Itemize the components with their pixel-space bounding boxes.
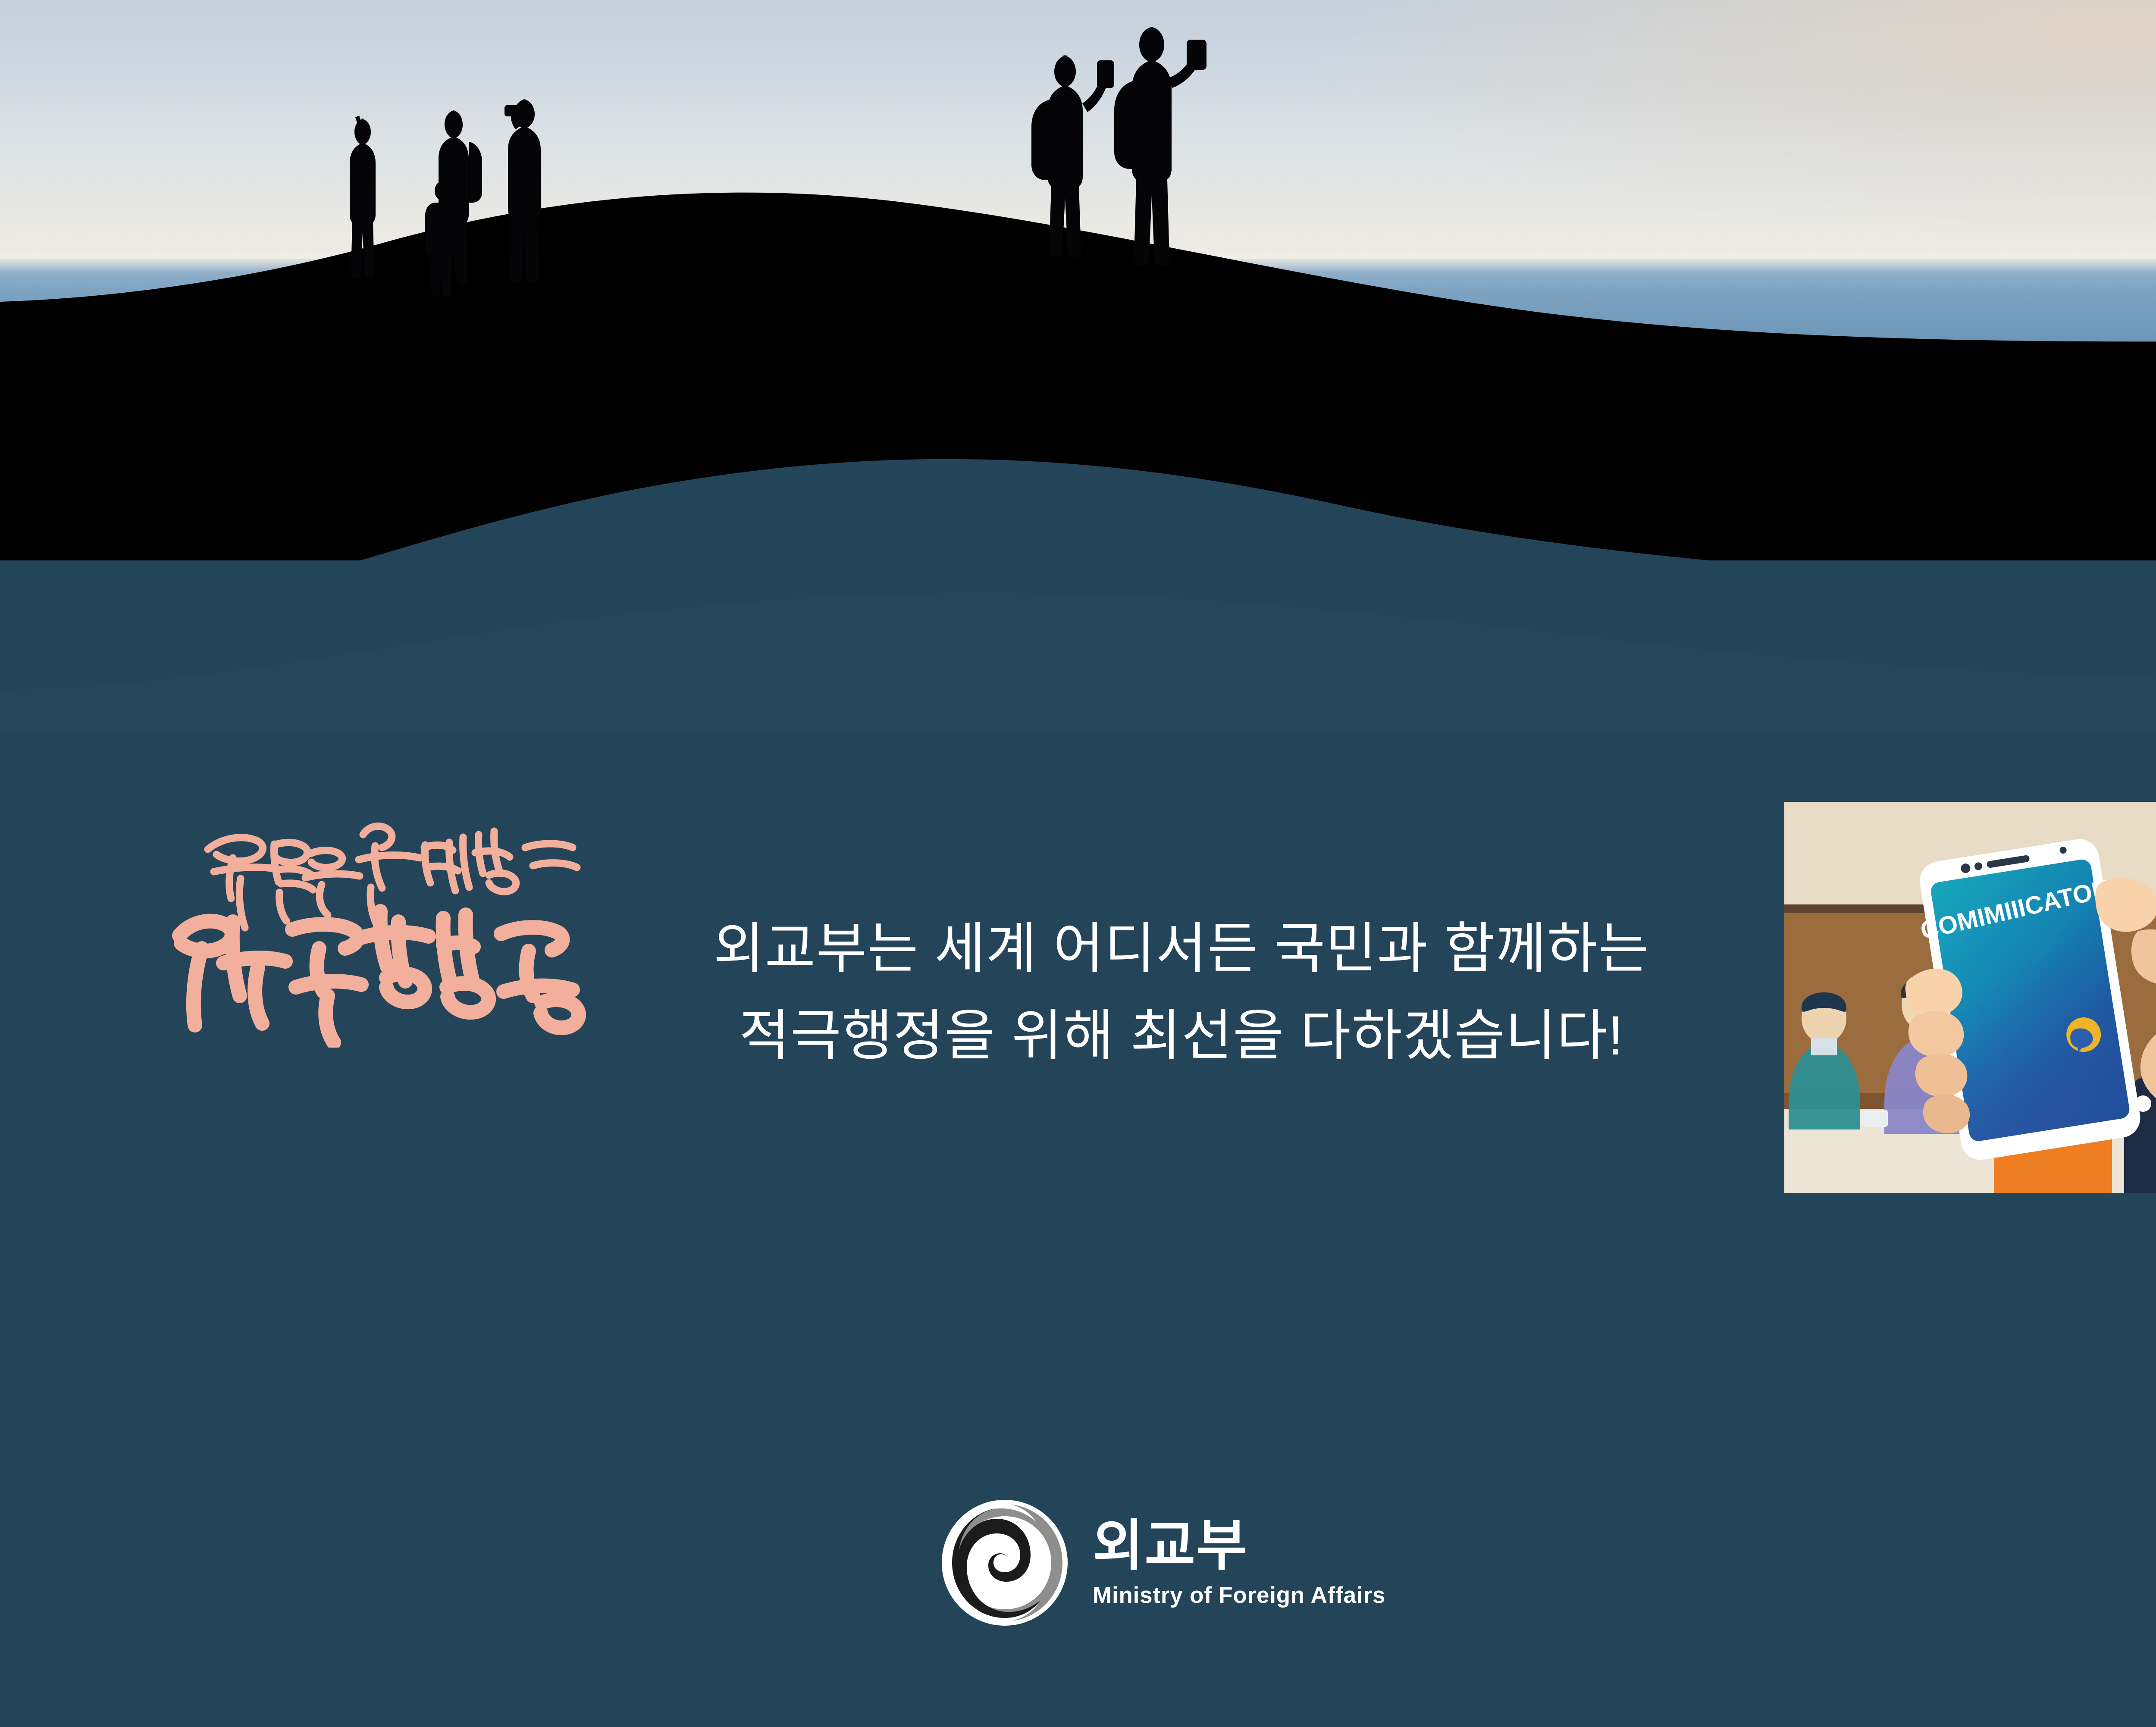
wave-transition xyxy=(0,302,2156,733)
phone-communication-illustration: COMIMIIICATON xyxy=(1784,802,2156,1193)
calligraphy-artwork xyxy=(168,806,612,1048)
ministry-name-en: Ministry of Foreign Affairs xyxy=(1093,1582,1385,1608)
headline-line-2: 적극행정을 위해 최선을 다하겠습니다! xyxy=(630,992,1733,1079)
poster-root: 외교부는 세계 어디서든 국민과 함께하는 적극행정을 위해 최선을 다하겠습니… xyxy=(0,0,2156,1727)
counter-item-left xyxy=(1861,1110,1888,1127)
calligraphy-line-1 xyxy=(208,826,577,931)
headline-block: 외교부는 세계 어디서든 국민과 함께하는 적극행정을 위해 최선을 다하겠습니… xyxy=(630,905,1733,1079)
ministry-text: 외교부 Ministry of Foreign Affairs xyxy=(1093,1517,1385,1608)
korean-government-taegeuk-emblem xyxy=(940,1498,1069,1627)
calligraphy-line-2 xyxy=(179,911,579,1042)
ministry-logo-lockup: 외교부 Ministry of Foreign Affairs xyxy=(940,1492,1397,1634)
ministry-name-ko: 외교부 xyxy=(1093,1517,1385,1575)
headline-line-1: 외교부는 세계 어디서든 국민과 함께하는 xyxy=(630,905,1733,992)
main-content: 외교부는 세계 어디서든 국민과 함께하는 적극행정을 위해 최선을 다하겠습니… xyxy=(0,759,2156,1276)
illustration-card: COMIMIIICATON xyxy=(1784,802,2156,1193)
silhouette-group-right xyxy=(1031,27,1206,266)
calligraphy-slogan xyxy=(168,806,612,1048)
